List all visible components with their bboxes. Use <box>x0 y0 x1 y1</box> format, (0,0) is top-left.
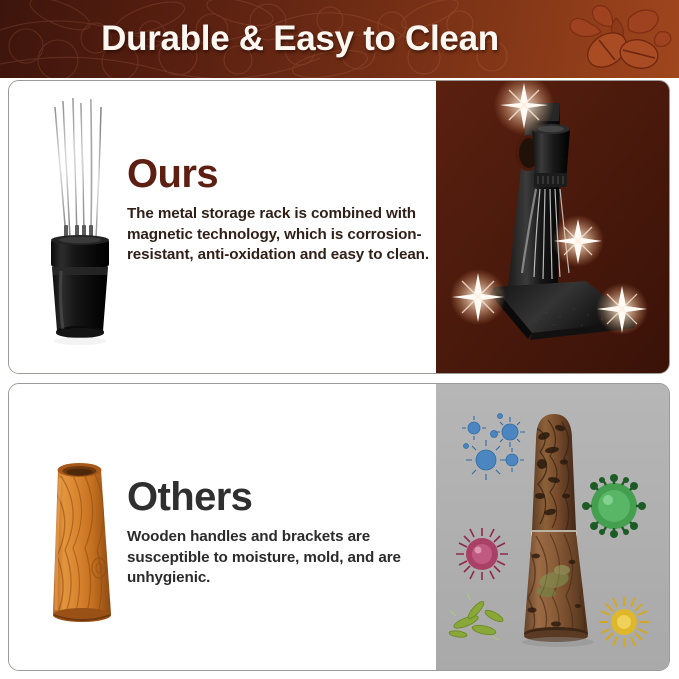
comparison-card-others: Others Wooden handles and brackets are s… <box>8 383 670 671</box>
germ-yellow-icon <box>599 597 649 647</box>
card-others-copy: Others Wooden handles and brackets are s… <box>127 476 427 589</box>
comparison-card-ours: Ours The metal storage rack is combined … <box>8 80 670 374</box>
header-banner: Durable & Easy to Clean <box>0 0 679 78</box>
product-photo-ours <box>436 81 669 373</box>
germ-green-icon <box>582 474 646 538</box>
black-wdt-tool-thumbnail <box>25 89 135 369</box>
headline-others: Others <box>127 476 427 518</box>
headline-ours: Ours <box>127 153 432 195</box>
magnetic-stand-photo <box>436 81 669 373</box>
product-photo-others <box>436 384 669 670</box>
moldy-wooden-tool-photo <box>436 384 669 670</box>
banner-title: Durable & Easy to Clean <box>0 0 600 78</box>
sparkle-icon <box>450 269 506 325</box>
wooden-cone-holder-thumbnail <box>27 446 137 636</box>
sparkle-icon <box>596 283 648 335</box>
card-ours-copy: Ours The metal storage rack is combined … <box>127 153 432 266</box>
card-others-content: Others Wooden handles and brackets are s… <box>9 384 437 670</box>
card-ours-content: Ours The metal storage rack is combined … <box>9 81 437 373</box>
body-text-others: Wooden handles and brackets are suscepti… <box>127 527 427 589</box>
sparkle-icon <box>552 215 604 267</box>
body-text-ours: The metal storage rack is combined with … <box>127 204 432 266</box>
